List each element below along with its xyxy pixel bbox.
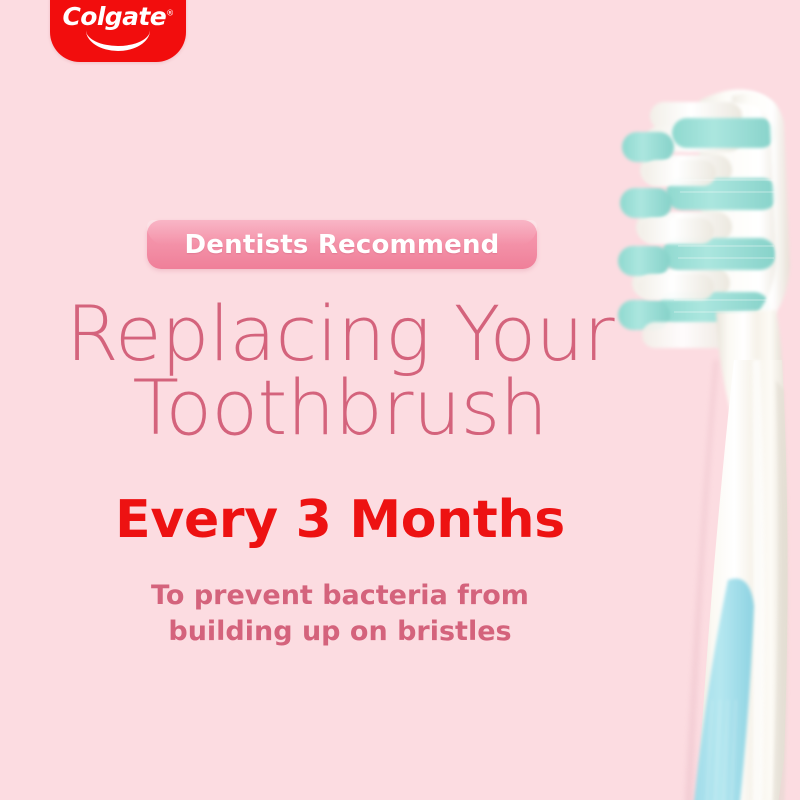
subtitle: To prevent bacteria from building up on … (0, 578, 680, 650)
headline-line-1: Replacing Your (0, 297, 680, 371)
subtitle-line-1: To prevent bacteria from (0, 578, 680, 614)
emphasis-text: Every 3 Months (0, 493, 680, 548)
colgate-logo: Colgate® (50, 0, 186, 62)
smile-arc-icon (86, 25, 150, 51)
page-title: Replacing Your Toothbrush (0, 297, 680, 446)
badge-label: Dentists Recommend (185, 230, 500, 260)
registered-mark-icon: ® (166, 9, 173, 18)
subtitle-line-2: building up on bristles (0, 614, 680, 650)
headline-line-2: Toothbrush (0, 371, 680, 445)
ad-canvas: Colgate® Dentists Recommend Replacing Yo… (0, 0, 800, 800)
dentists-recommend-badge: Dentists Recommend (147, 220, 537, 269)
